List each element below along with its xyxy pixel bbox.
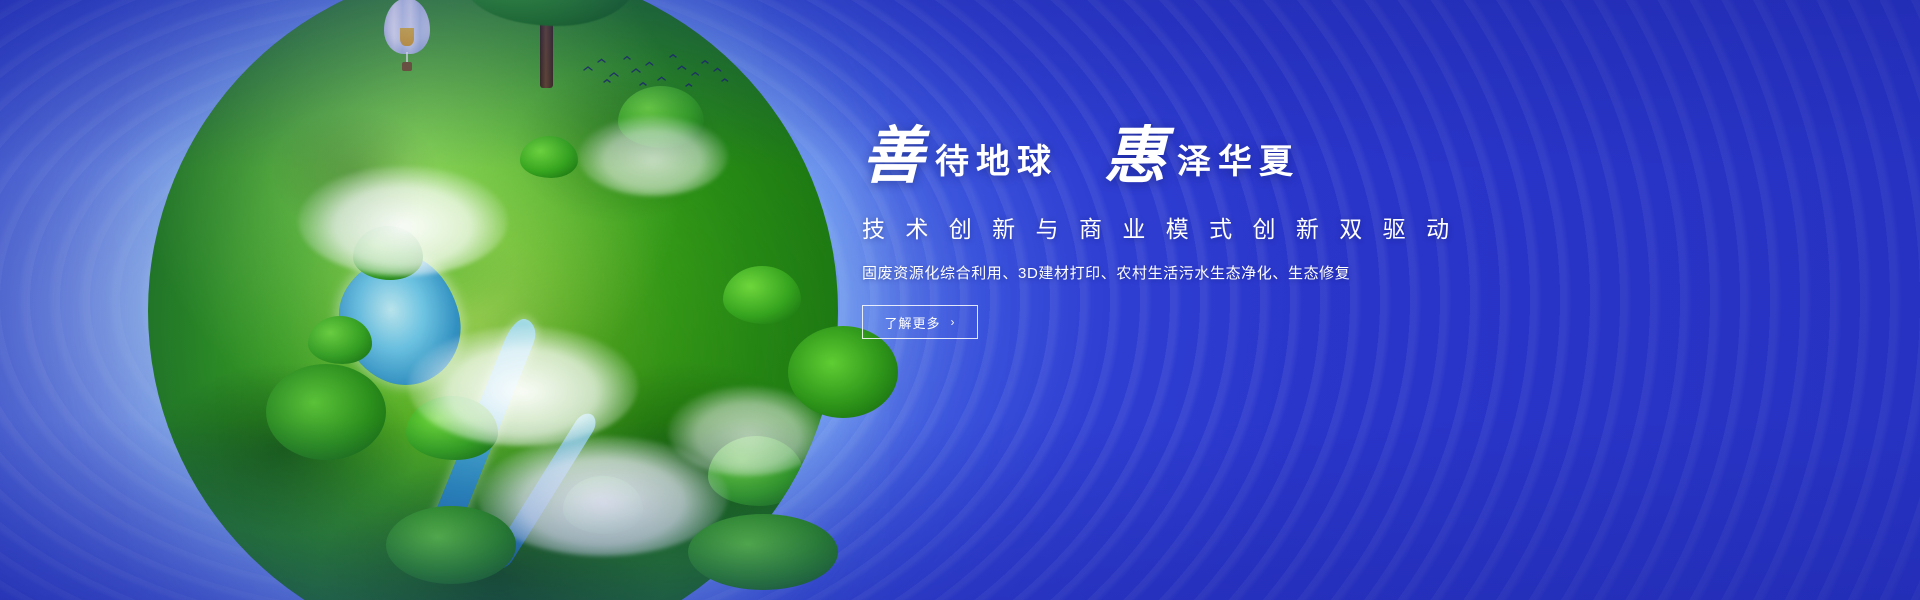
chevron-right-icon: › [951,316,956,328]
headline-rest-2: 泽华夏 [1177,146,1300,180]
hero-subtitle: 技 术 创 新 与 商 业 模 式 创 新 双 驱 动 [862,210,1562,244]
headline-char-2: 惠 [1104,126,1167,188]
hero-content: 善 待地球 惠 泽华夏 技 术 创 新 与 商 业 模 式 创 新 双 驱 动 … [862,126,1562,339]
hero-banner: 善 待地球 惠 泽华夏 技 术 创 新 与 商 业 模 式 创 新 双 驱 动 … [0,0,1920,600]
learn-more-button[interactable]: 了解更多 › [862,305,978,339]
headline-char-1: 善 [862,126,925,188]
hero-headline: 善 待地球 惠 泽华夏 [862,126,1562,188]
learn-more-label: 了解更多 [884,313,940,332]
hero-description: 固废资源化综合利用、3D建材打印、农村生活污水生态净化、生态修复 [862,262,1562,283]
headline-rest-1: 待地球 [935,146,1058,180]
